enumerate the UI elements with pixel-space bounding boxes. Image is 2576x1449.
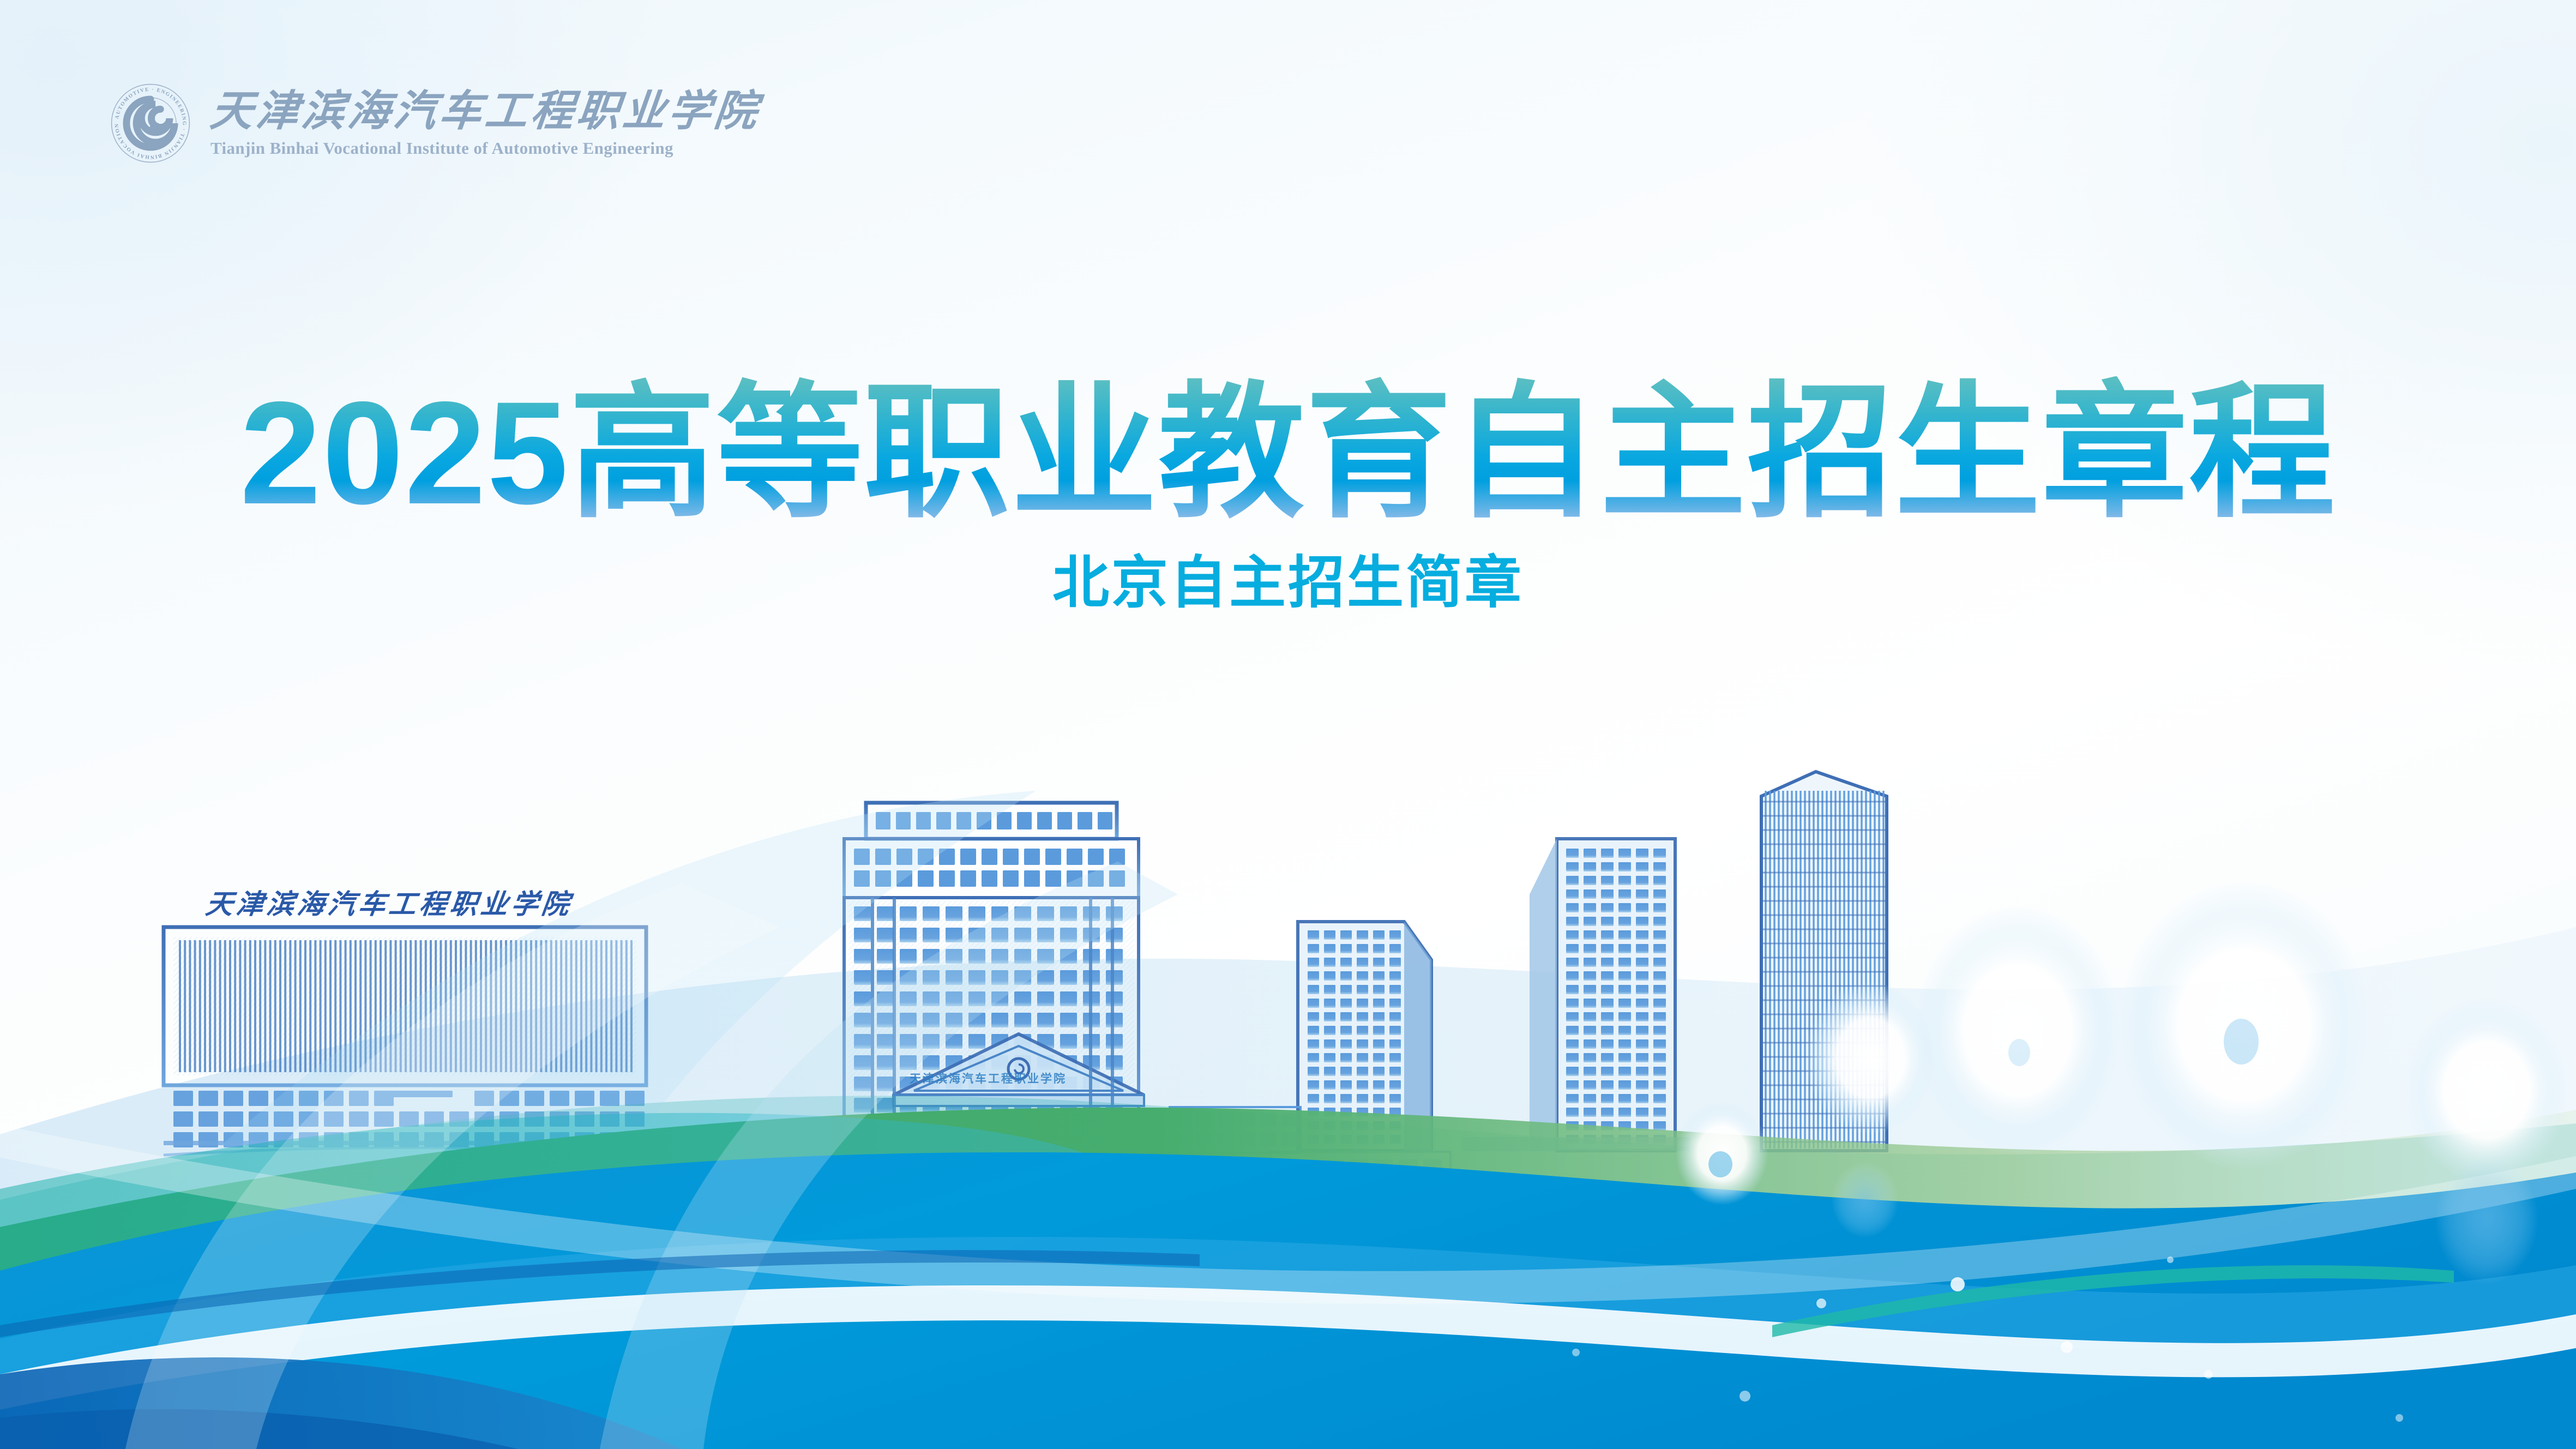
campus-building-sign: 天津滨海汽车工程职业学院 <box>204 882 575 922</box>
logo-name-cn: 天津滨海汽车工程职业学院 <box>208 90 762 133</box>
institution-logo[interactable]: AUTOMOTIVE · ENGINEERING · TIANJIN BINHA… <box>109 82 760 165</box>
poster-canvas: AUTOMOTIVE · ENGINEERING · TIANJIN BINHA… <box>0 0 2576 1449</box>
wave-graphics <box>0 0 2576 1449</box>
logo-name-en: Tianjin Binhai Vocational Institute of A… <box>210 140 760 157</box>
pediment-sign: 天津滨海汽车工程职业学院 <box>910 1070 1067 1086</box>
spiral-emblem-icon: AUTOMOTIVE · ENGINEERING · TIANJIN BINHA… <box>109 82 192 165</box>
